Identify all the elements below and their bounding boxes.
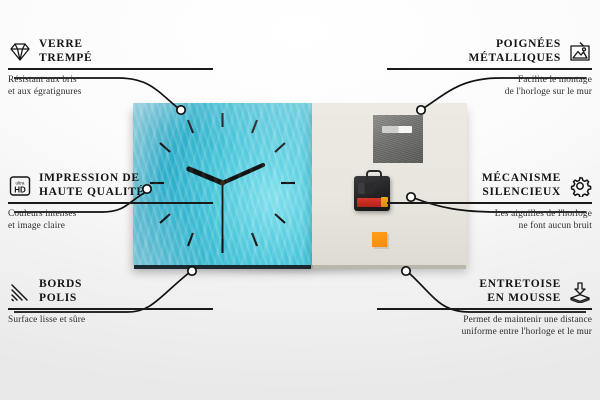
feature-divider — [377, 308, 592, 310]
foam-spacer — [372, 232, 387, 247]
foam-spacer-icon — [568, 281, 592, 303]
ultra-hd-icon: ultra HD — [8, 175, 32, 197]
feature-subtitle: Surface lisse et sûre — [8, 314, 213, 326]
quartz-mechanism — [354, 176, 390, 211]
infographic-canvas: VERRETREMPÉ Résistant aux briset aux égr… — [0, 0, 600, 400]
feature-bords-polis: BORDSPOLIS Surface lisse et sûre — [8, 278, 213, 326]
feature-entretoise-en-mousse: ENTRETOISEEN MOUSSE Permet de maintenir … — [377, 278, 592, 338]
feature-divider — [8, 202, 213, 204]
feature-header: VERRETREMPÉ — [8, 38, 213, 65]
feature-header: ENTRETOISEEN MOUSSE — [377, 278, 592, 305]
battery — [357, 198, 385, 207]
feature-subtitle: Résistant aux briset aux égratignures — [8, 74, 213, 98]
mechanism-body-detail — [358, 183, 374, 194]
feature-impression-haute-qualite: ultra HD IMPRESSION DEHAUTE QUALITÉ Coul… — [8, 172, 213, 232]
feature-header: ultra HD IMPRESSION DEHAUTE QUALITÉ — [8, 172, 213, 199]
polished-edge-icon — [8, 281, 32, 303]
diamond-icon — [8, 41, 32, 63]
svg-text:HD: HD — [14, 185, 26, 194]
mechanism-hook — [366, 170, 382, 180]
feature-subtitle: Les aiguilles de l'horlogene font aucun … — [387, 208, 592, 232]
feature-subtitle: Couleurs intenseset image claire — [8, 208, 213, 232]
feature-title: BORDSPOLIS — [39, 278, 82, 305]
feature-title: ENTRETOISEEN MOUSSE — [479, 278, 561, 305]
feature-verre-trempe: VERRETREMPÉ Résistant aux briset aux égr… — [8, 38, 213, 98]
feature-subtitle: Permet de maintenir une distanceuniforme… — [377, 314, 592, 338]
feature-title: POIGNÉESMÉTALLIQUES — [469, 38, 561, 65]
metal-hanging-plate — [373, 115, 423, 163]
clock-minute-hand — [223, 165, 264, 183]
feature-divider — [387, 68, 592, 70]
feature-title: VERRETREMPÉ — [39, 38, 92, 65]
clock-center-cap — [220, 180, 225, 185]
feature-header: MÉCANISMESILENCIEUX — [387, 172, 592, 199]
feature-header: BORDSPOLIS — [8, 278, 213, 305]
feature-mecanisme-silencieux: MÉCANISMESILENCIEUX Les aiguilles de l'h… — [387, 172, 592, 232]
feature-divider — [387, 202, 592, 204]
gear-icon — [568, 175, 592, 197]
feature-subtitle: Facilite le montagede l'horloge sur le m… — [387, 74, 592, 98]
feature-title: MÉCANISMESILENCIEUX — [482, 172, 561, 199]
feature-divider — [8, 68, 213, 70]
plate-slot — [382, 126, 412, 133]
feature-header: POIGNÉESMÉTALLIQUES — [387, 38, 592, 65]
feature-poignees-metalliques: POIGNÉESMÉTALLIQUES Facilite le montaged… — [387, 38, 592, 98]
feature-divider — [8, 308, 213, 310]
picture-frame-icon — [568, 41, 592, 63]
feature-title: IMPRESSION DEHAUTE QUALITÉ — [39, 172, 145, 199]
